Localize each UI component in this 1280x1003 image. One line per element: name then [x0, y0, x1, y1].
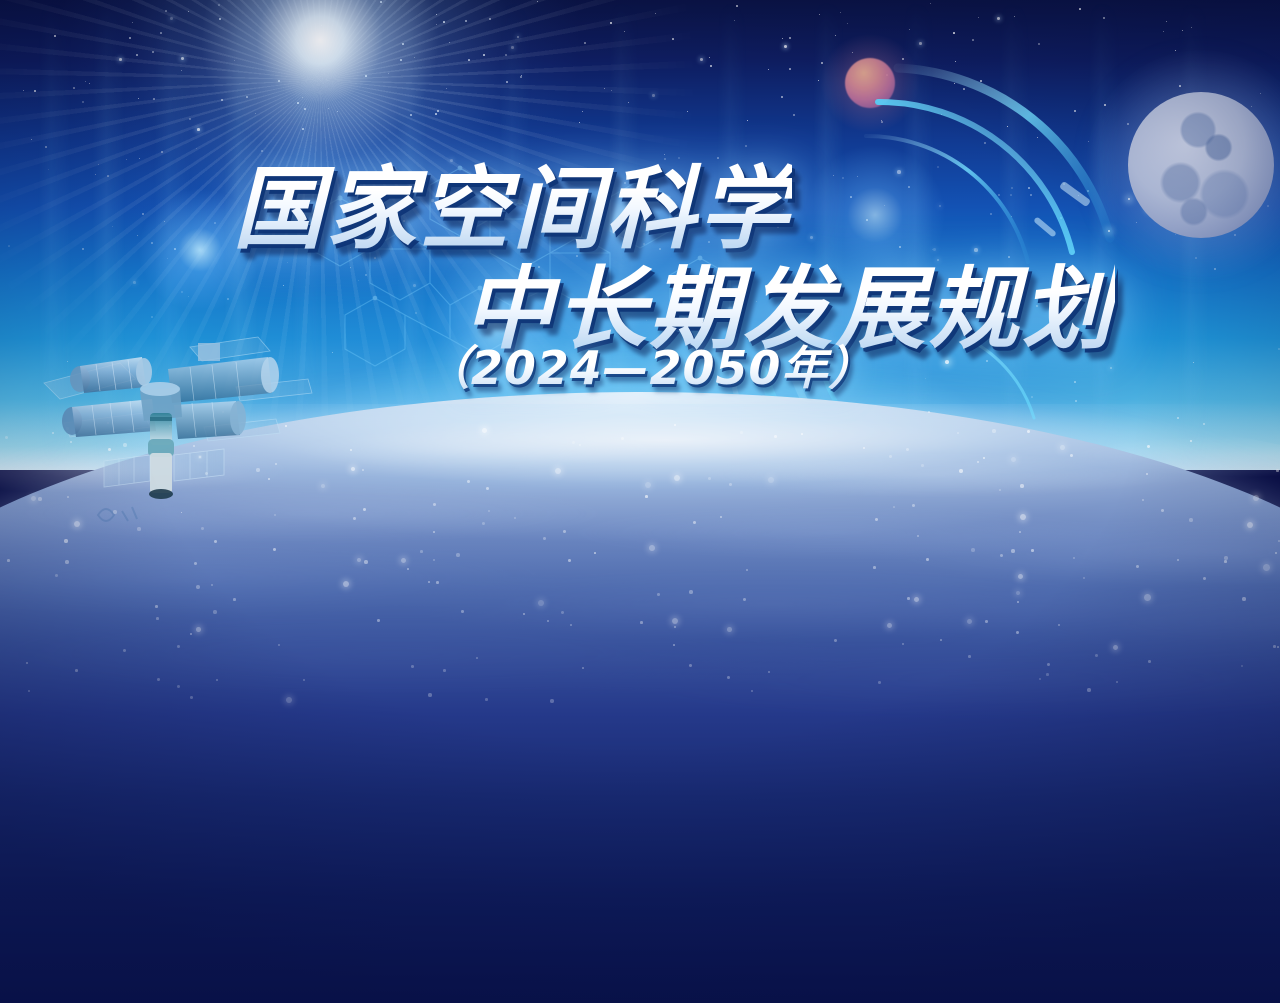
poster-subtitle: （2024—2050年）	[424, 332, 875, 398]
poster-root: 国家空间科学 中长期发展规划 （2024—2050年）	[0, 0, 1280, 1003]
title-block: 国家空间科学 中长期发展规划 （2024—2050年）	[0, 0, 1280, 470]
